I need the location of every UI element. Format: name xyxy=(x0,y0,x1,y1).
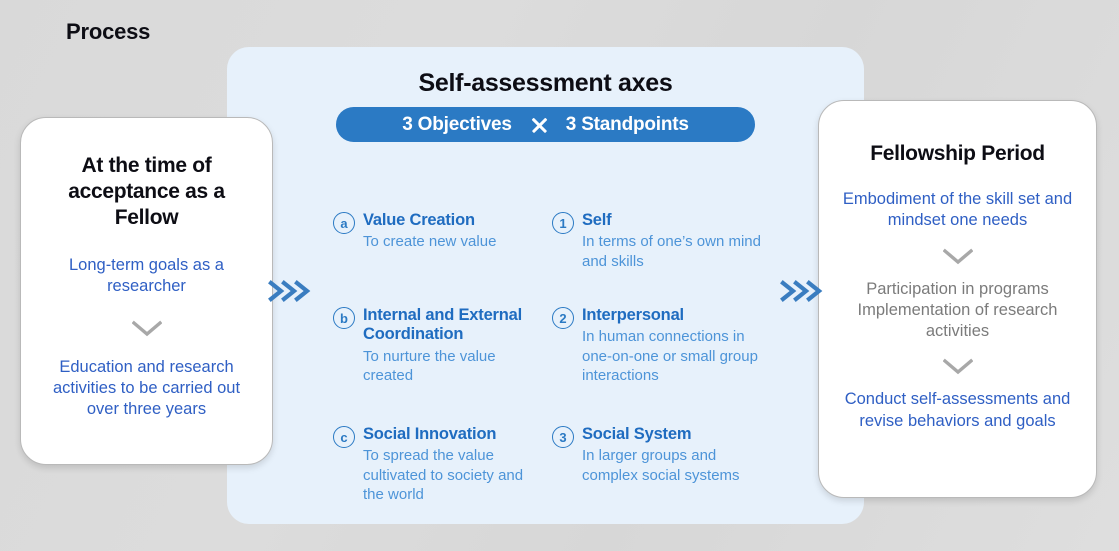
circle-number-3-icon: 3 xyxy=(552,426,574,448)
objective-item-c: c Social Innovation To spread the value … xyxy=(333,425,548,505)
objective-description: To spread the value cultivated to societ… xyxy=(363,446,548,505)
standpoint-title: Interpersonal xyxy=(582,306,767,325)
circle-letter-a-icon: a xyxy=(333,212,355,234)
pill-objectives-label: 3 Objectives xyxy=(402,114,512,136)
standpoint-item-1: 1 Self In terms of one’s own mind and sk… xyxy=(552,211,767,271)
standpoint-item-3: 3 Social System In larger groups and com… xyxy=(552,425,767,485)
triple-chevron-right-icon xyxy=(780,276,826,306)
standpoint-title: Social System xyxy=(582,425,767,444)
self-assessment-panel: Self-assessment axes 3 Objectives 3 Stan… xyxy=(227,47,864,524)
standpoint-description: In human connections in one-on-one or sm… xyxy=(582,327,767,386)
circle-letter-c-icon: c xyxy=(333,426,355,448)
multiply-icon xyxy=(529,115,549,135)
standpoint-description: In terms of one’s own mind and skills xyxy=(582,232,767,271)
card-title: At the time of acceptance as a Fellow xyxy=(41,153,252,231)
objective-description: To create new value xyxy=(363,232,548,252)
axes-pill: 3 Objectives 3 Standpoints xyxy=(336,107,755,142)
objective-title: Internal and External Coordination xyxy=(363,306,548,345)
card-title: Fellowship Period xyxy=(839,141,1076,167)
standpoint-title: Self xyxy=(582,211,767,230)
pill-standpoints-label: 3 Standpoints xyxy=(566,114,689,136)
fellowship-embodiment-text: Embodiment of the skill set and mindset … xyxy=(833,189,1082,232)
standpoint-description: In larger groups and complex social syst… xyxy=(582,446,767,485)
circle-letter-b-icon: b xyxy=(333,307,355,329)
circle-number-2-icon: 2 xyxy=(552,307,574,329)
standpoint-item-2: 2 Interpersonal In human connections in … xyxy=(552,306,767,386)
fellowship-stage-card: Fellowship Period Embodiment of the skil… xyxy=(818,100,1097,498)
objective-title: Social Innovation xyxy=(363,425,548,444)
chevron-down-icon xyxy=(132,320,162,337)
circle-number-1-icon: 1 xyxy=(552,212,574,234)
objective-title: Value Creation xyxy=(363,211,548,230)
fellowship-participation-text: Participation in programs Implementation… xyxy=(833,279,1082,343)
center-panel-heading: Self-assessment axes xyxy=(227,69,864,98)
objective-item-b: b Internal and External Coordination To … xyxy=(333,306,548,386)
acceptance-stage-card: At the time of acceptance as a Fellow Lo… xyxy=(20,117,273,465)
acceptance-goal-text: Long-term goals as a researcher xyxy=(37,255,256,298)
chevron-down-icon xyxy=(943,358,973,375)
page-title: Process xyxy=(66,19,150,45)
triple-chevron-right-icon xyxy=(268,276,314,306)
acceptance-activities-text: Education and research activities to be … xyxy=(37,357,256,421)
chevron-down-icon xyxy=(943,248,973,265)
objective-item-a: a Value Creation To create new value xyxy=(333,211,548,252)
objective-description: To nurture the value created xyxy=(363,347,548,386)
fellowship-selfassessment-text: Conduct self-assessments and revise beha… xyxy=(833,389,1082,432)
